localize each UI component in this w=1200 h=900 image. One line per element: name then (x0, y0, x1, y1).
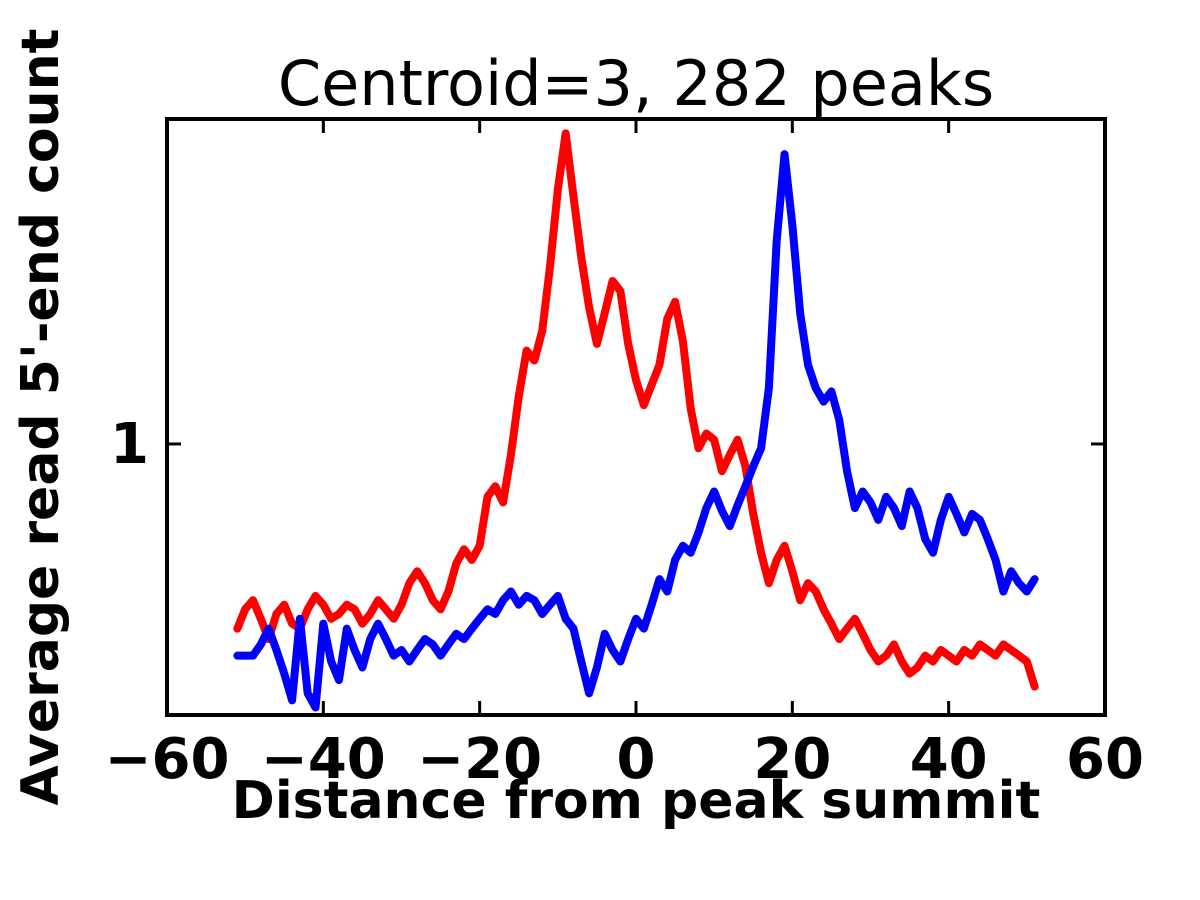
x-tick-label: −60 (105, 727, 230, 792)
x-axis-title: Distance from peak summit (232, 771, 1041, 831)
chart-figure: Centroid=3, 282 peaks −60−40−200204060 1… (0, 0, 1200, 900)
y-tick-label: 1 (110, 412, 149, 477)
x-tick-label: 60 (1066, 727, 1144, 792)
chart-canvas: Centroid=3, 282 peaks −60−40−200204060 1… (0, 0, 1200, 900)
y-axis-title: Average read 5'-end count (11, 29, 71, 806)
chart-title: Centroid=3, 282 peaks (278, 47, 994, 120)
y-tick-labels-group: 1 (110, 412, 149, 477)
